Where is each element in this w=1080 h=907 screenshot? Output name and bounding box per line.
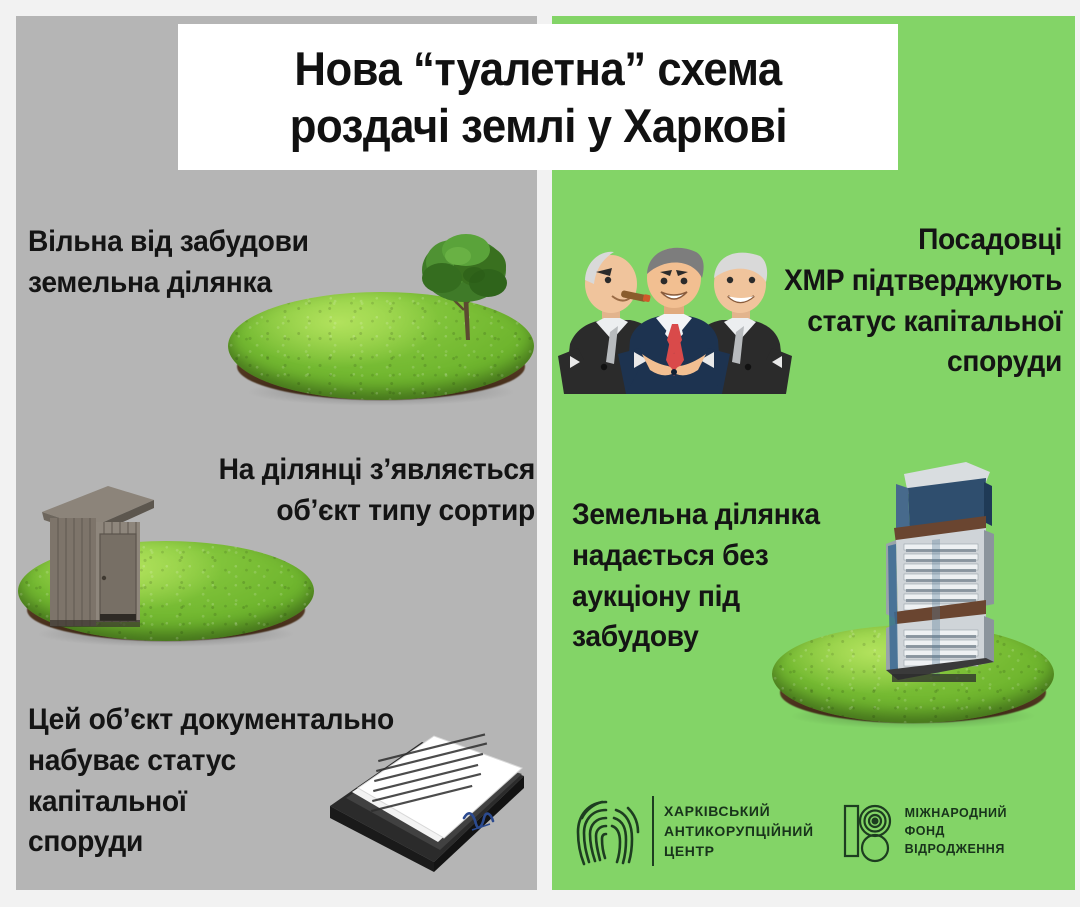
poster-title: Нова “туалетна” схема роздачі землі у Ха… bbox=[178, 24, 898, 170]
outhouse-icon bbox=[36, 466, 156, 632]
tree-icon bbox=[406, 228, 524, 340]
infographic-poster: Нова “туалетна” схема роздачі землі у Ха… bbox=[0, 0, 1080, 907]
irf-circles-icon bbox=[842, 798, 894, 864]
logo-irf-line-1: МІЖНАРОДНИЙ bbox=[905, 804, 1007, 822]
logo-row: ХАРКІВСЬКИЙ АНТИКОРУПЦІЙНИЙ ЦЕНТР МІЖНАР… bbox=[572, 788, 1062, 874]
logo-hac-line-1: ХАРКІВСЬКИЙ bbox=[664, 801, 814, 821]
step-officials-label: Посадовці ХМР підтверджують статус капіт… bbox=[780, 220, 1062, 383]
logo-hac-line-3: ЦЕНТР bbox=[664, 841, 814, 861]
title-line-1: Нова “туалетна” схема bbox=[294, 40, 781, 97]
officials-illustration bbox=[556, 236, 792, 394]
logo-irf: МІЖНАРОДНИЙ ФОНД ВІДРОДЖЕННЯ bbox=[842, 798, 1007, 864]
logo-hac-line-2: АНТИКОРУПЦІЙНИЙ bbox=[664, 821, 814, 841]
logo-hac: ХАРКІВСЬКИЙ АНТИКОРУПЦІЙНИЙ ЦЕНТР bbox=[572, 792, 814, 870]
step-free-plot-label: Вільна від забудови земельна ділянка bbox=[28, 222, 338, 304]
step-outhouse-label: На ділянці з’являється об’єкт типу сорти… bbox=[215, 450, 535, 532]
fingerprint-icon bbox=[572, 792, 640, 870]
step-no-auction-label: Земельна ділянка надається без аукціону … bbox=[572, 495, 845, 658]
title-line-2: роздачі землі у Харкові bbox=[289, 97, 786, 154]
logo-divider bbox=[652, 796, 654, 866]
logo-irf-line-2: ФОНД bbox=[905, 822, 1007, 840]
logo-irf-line-3: ВІДРОДЖЕННЯ bbox=[905, 840, 1007, 858]
step-documents-label: Цей об’єкт документально набуває статус … bbox=[28, 700, 395, 863]
building-icon bbox=[874, 448, 1002, 688]
